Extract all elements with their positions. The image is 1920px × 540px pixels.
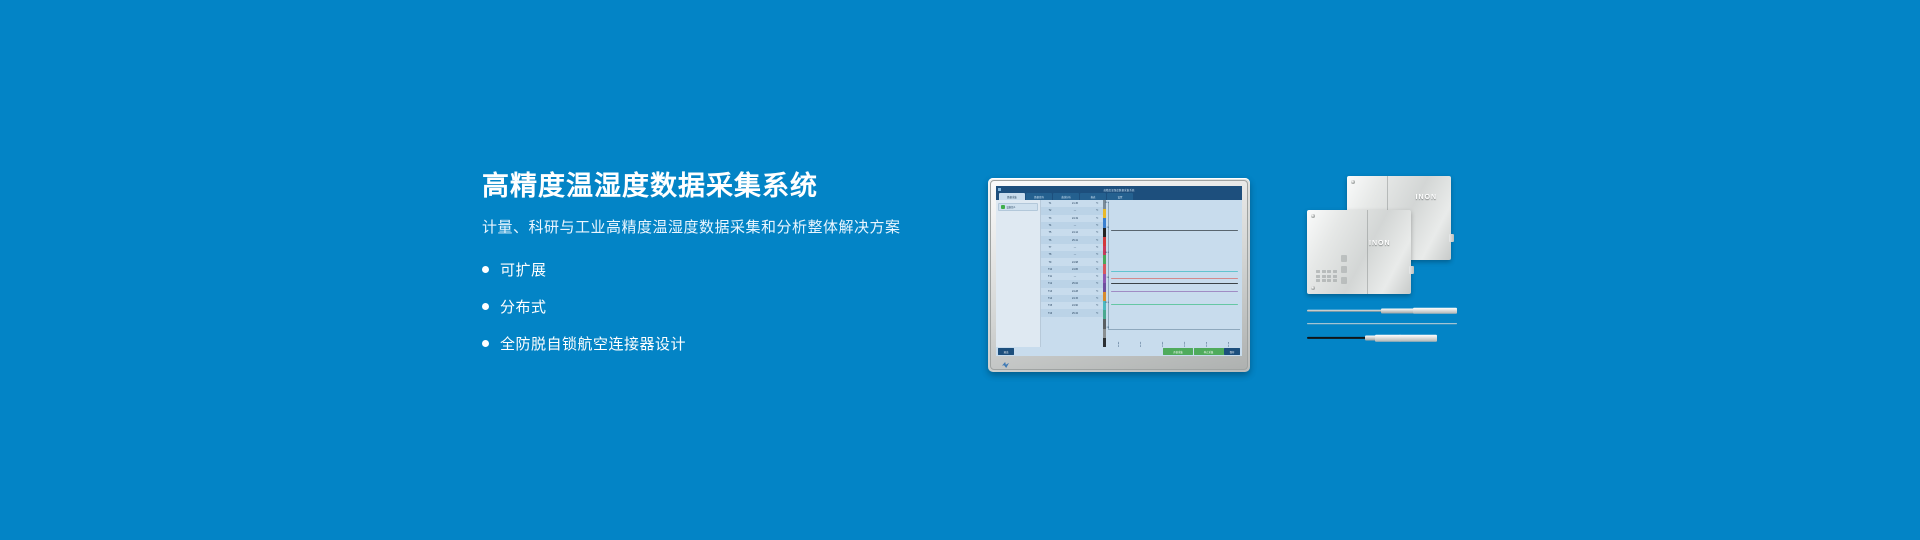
bullet-dot-icon xyxy=(482,340,489,347)
cell-channel: T8 xyxy=(1043,253,1057,256)
table-row[interactable]: T1524.90℃ xyxy=(1041,302,1103,309)
y-tick-label: 25.5 xyxy=(1105,202,1109,204)
device-label: 设备组-1 xyxy=(1007,205,1016,209)
status-online-icon xyxy=(1001,205,1005,209)
connector-port xyxy=(1409,266,1414,274)
feature-label: 分布式 xyxy=(500,296,547,317)
x-tick-label: 09:30 xyxy=(1140,331,1142,347)
trend-chart: 25.52524.52423.523 09:0009:3010:0010:301… xyxy=(1106,200,1242,347)
tab-curve-analysis[interactable]: 曲线分析 xyxy=(1053,193,1079,200)
y-tick-label: 25 xyxy=(1107,227,1109,229)
table-row[interactable]: T1024.86℃ xyxy=(1041,266,1103,273)
x-tick-label: 11:00 xyxy=(1206,331,1208,347)
y-tick-label: 24.5 xyxy=(1105,252,1109,254)
cell-value: 25.41 xyxy=(1059,239,1091,242)
screw-icon xyxy=(1311,286,1315,290)
port-marks xyxy=(1341,255,1347,284)
tab-data-acquisition[interactable]: 数据采集 xyxy=(999,193,1025,200)
stop-acquisition-button[interactable]: 停止采集 xyxy=(1194,348,1224,355)
list-item: 分布式 xyxy=(482,296,1002,317)
list-item: 可扩展 xyxy=(482,259,1002,280)
cell-value: 24.28 xyxy=(1059,290,1091,293)
cell-channel: T9 xyxy=(1043,261,1057,264)
cell-channel: T14 xyxy=(1043,297,1057,300)
start-acquisition-button[interactable]: 开始采集 xyxy=(1163,348,1193,355)
table-row[interactable]: T924.98℃ xyxy=(1041,258,1103,265)
cell-value: 24.98 xyxy=(1059,261,1091,264)
cell-value: 25.34 xyxy=(1059,312,1091,315)
cell-value: 24.12 xyxy=(1059,231,1091,234)
cell-value: 24.90 xyxy=(1059,304,1091,307)
aviation-connector-probe xyxy=(1307,334,1457,342)
product-banner: 高精度温湿度数据采集系统 计量、科研与工业高精度温湿度数据采集和分析整体解决方案… xyxy=(0,0,1920,540)
panel-pc-monitor: 高精度温湿度数据采集系统 数据采集 数据查询 曲线分析 报表 设置 设备组-1 xyxy=(988,178,1250,372)
x-tick-label: 10:30 xyxy=(1184,331,1186,347)
bullet-dot-icon xyxy=(482,266,489,273)
cell-channel: T6 xyxy=(1043,239,1057,242)
y-tick-label: 23 xyxy=(1107,327,1109,329)
table-row[interactable]: T11---℃ xyxy=(1041,273,1103,280)
temperature-probe xyxy=(1307,308,1457,313)
x-tick-label: 10:00 xyxy=(1162,331,1164,347)
table-row[interactable]: T524.12℃ xyxy=(1041,229,1103,236)
panel-seam xyxy=(1367,210,1368,294)
exit-button[interactable]: 退出 xyxy=(998,348,1014,355)
cell-value: --- xyxy=(1059,253,1091,256)
cell-channel: T7 xyxy=(1043,246,1057,249)
screw-icon xyxy=(1311,214,1315,218)
hardware-group: INON INON xyxy=(1303,172,1463,372)
table-row[interactable]: T2---℃ xyxy=(1041,207,1103,214)
brand-logo: INON xyxy=(1369,240,1391,247)
cell-value: 24.19 xyxy=(1059,217,1091,220)
table-row[interactable]: T8---℃ xyxy=(1041,251,1103,258)
tab-settings[interactable]: 设置 xyxy=(1107,193,1133,200)
y-tick-label: 23.5 xyxy=(1105,302,1109,304)
table-row[interactable]: T324.19℃ xyxy=(1041,215,1103,222)
device-sidebar: 设备组-1 xyxy=(996,200,1041,347)
cell-value: --- xyxy=(1059,275,1091,278)
cell-value: 21.45 xyxy=(1059,202,1091,205)
cell-channel: T5 xyxy=(1043,231,1057,234)
channel-table[interactable]: T121.45℃ T2---℃ T324.19℃ T4---℃ T524.12℃… xyxy=(1041,200,1103,347)
x-tick-label: 11:30 xyxy=(1228,331,1230,347)
sidebar-item-device-group[interactable]: 设备组-1 xyxy=(998,203,1038,211)
app-icon xyxy=(998,188,1001,191)
cell-channel: T15 xyxy=(1043,304,1057,307)
list-item: 全防脱自锁航空连接器设计 xyxy=(482,333,1002,354)
table-row[interactable]: T1225.02℃ xyxy=(1041,280,1103,287)
table-row[interactable]: T1324.28℃ xyxy=(1041,288,1103,295)
table-row[interactable]: T625.41℃ xyxy=(1041,236,1103,243)
cell-value: --- xyxy=(1059,224,1091,227)
connector-port xyxy=(1449,234,1454,242)
app-tab-bar: 数据采集 数据查询 曲线分析 报表 设置 xyxy=(996,193,1242,200)
x-tick-label: 09:00 xyxy=(1118,331,1120,347)
cell-channel: T10 xyxy=(1043,268,1057,271)
banner-copy: 高精度温湿度数据采集系统 计量、科研与工业高精度温湿度数据采集和分析整体解决方案… xyxy=(482,172,1002,370)
brand-logo: INON xyxy=(1416,194,1438,201)
feature-label: 可扩展 xyxy=(500,259,547,280)
humidity-probe xyxy=(1307,322,1457,325)
table-row[interactable]: T1424.15℃ xyxy=(1041,295,1103,302)
monitor-display: 高精度温湿度数据采集系统 数据采集 数据查询 曲线分析 报表 设置 设备组-1 xyxy=(996,186,1242,356)
chart-x-axis: 09:0009:3010:0010:3011:0011:30 xyxy=(1108,329,1240,347)
cell-channel: T16 xyxy=(1043,312,1057,315)
app-footer: 退出 开始采集 停止采集 保存 xyxy=(996,347,1242,356)
cell-channel: T12 xyxy=(1043,282,1057,285)
screw-icon xyxy=(1351,180,1355,184)
cell-channel: T11 xyxy=(1043,275,1057,278)
save-button[interactable]: 保存 xyxy=(1224,348,1240,355)
tab-data-query[interactable]: 数据查询 xyxy=(1026,193,1052,200)
cell-value: --- xyxy=(1059,246,1091,249)
cell-channel: T2 xyxy=(1043,209,1057,212)
app-titlebar: 高精度温湿度数据采集系统 xyxy=(996,186,1242,193)
footer-actions: 开始采集 停止采集 保存 xyxy=(1163,348,1240,355)
cell-channel: T13 xyxy=(1043,290,1057,293)
data-logger-front: INON xyxy=(1307,210,1411,294)
feature-label: 全防脱自锁航空连接器设计 xyxy=(500,333,686,354)
bullet-dot-icon xyxy=(482,303,489,310)
terminal-block-marks xyxy=(1316,270,1337,282)
cell-channel: T4 xyxy=(1043,224,1057,227)
y-tick-label: 24 xyxy=(1107,277,1109,279)
acquisition-app: 高精度温湿度数据采集系统 数据采集 数据查询 曲线分析 报表 设置 设备组-1 xyxy=(996,186,1242,356)
cell-value: 25.02 xyxy=(1059,282,1091,285)
table-row[interactable]: T1625.34℃ xyxy=(1041,309,1103,316)
feature-list: 可扩展 分布式 全防脱自锁航空连接器设计 xyxy=(482,259,1002,354)
chart-plot-area: 25.52524.52423.523 xyxy=(1108,202,1240,329)
cell-channel: T1 xyxy=(1043,202,1057,205)
app-body: 设备组-1 T121.45℃ T2---℃ T324.19℃ T4---℃ T5… xyxy=(996,200,1242,347)
chart-y-axis: 25.52524.52423.523 xyxy=(1100,202,1110,329)
page-title: 高精度温湿度数据采集系统 xyxy=(482,172,1002,202)
app-title: 高精度温湿度数据采集系统 xyxy=(1103,188,1134,192)
tab-report[interactable]: 报表 xyxy=(1080,193,1106,200)
table-row[interactable]: T121.45℃ xyxy=(1041,200,1103,207)
cell-channel: T3 xyxy=(1043,217,1057,220)
table-row[interactable]: T7---℃ xyxy=(1041,244,1103,251)
table-row[interactable]: T4---℃ xyxy=(1041,222,1103,229)
page-subtitle: 计量、科研与工业高精度温湿度数据采集和分析整体解决方案 xyxy=(482,218,1002,238)
cell-value: 24.15 xyxy=(1059,297,1091,300)
cell-value: 24.86 xyxy=(1059,268,1091,271)
cell-value: --- xyxy=(1059,209,1091,212)
